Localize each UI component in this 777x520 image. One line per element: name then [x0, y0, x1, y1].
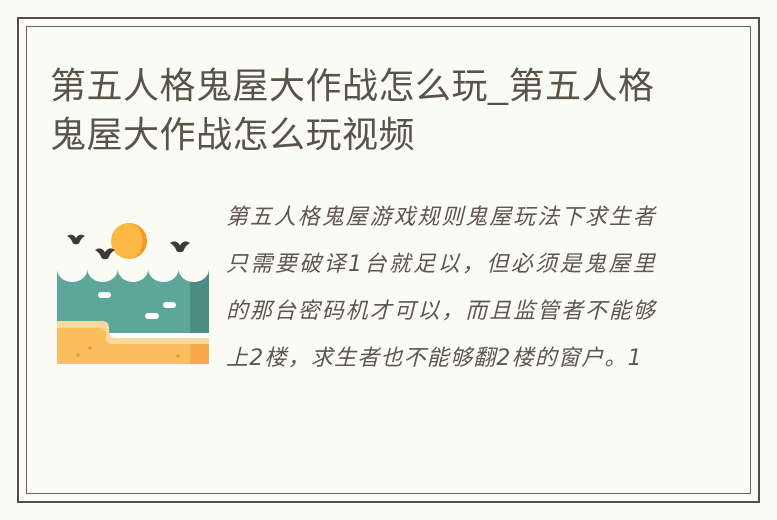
article-body-row: 第五人格鬼屋游戏规则鬼屋玩法下求生者只需要破译1台就足以，但必须是鬼屋里的那台密…	[26, 194, 751, 444]
beach-illustration	[57, 209, 209, 364]
article-body-text: 第五人格鬼屋游戏规则鬼屋玩法下求生者只需要破译1台就足以，但必须是鬼屋里的那台密…	[226, 194, 656, 382]
article-content: 第五人格鬼屋大作战怎么玩_第五人格鬼屋大作战怎么玩视频	[26, 26, 751, 494]
article-page: 第五人格鬼屋大作战怎么玩_第五人格鬼屋大作战怎么玩视频	[0, 0, 777, 520]
page-title: 第五人格鬼屋大作战怎么玩_第五人格鬼屋大作战怎么玩视频	[50, 61, 690, 159]
sun-icon	[111, 223, 147, 259]
